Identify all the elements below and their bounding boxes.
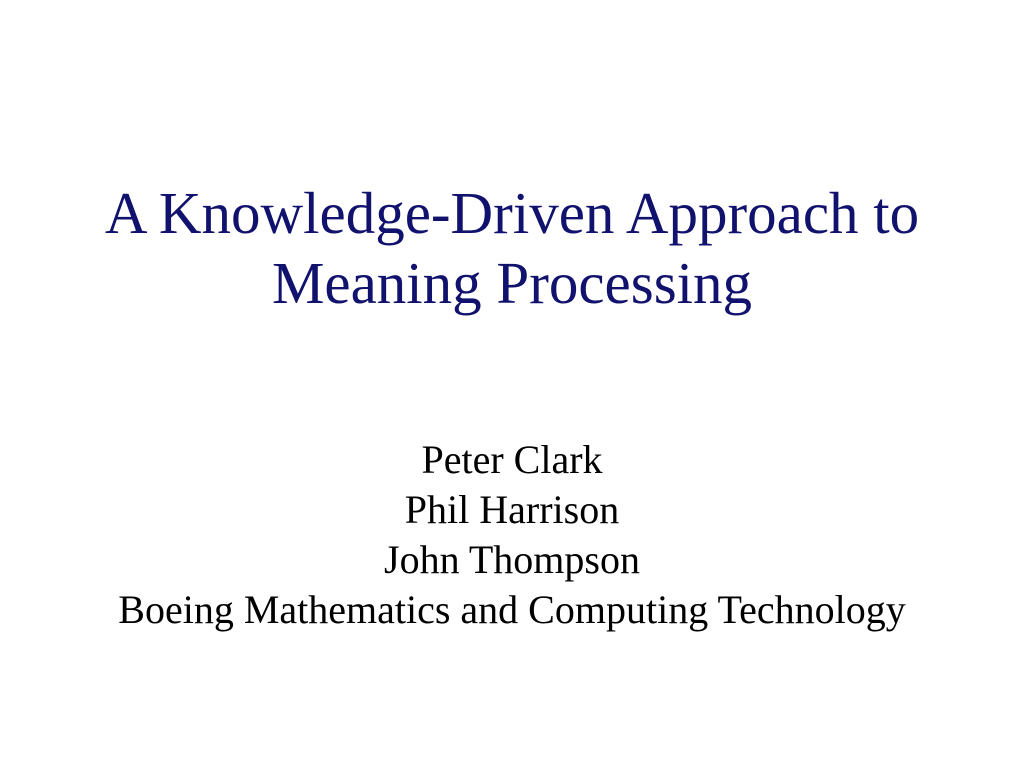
author-name-1: Peter Clark [40, 435, 984, 485]
slide-title: A Knowledge-Driven Approach to Meaning P… [0, 178, 1024, 318]
author-name-2: Phil Harrison [40, 485, 984, 535]
author-name-3: John Thompson [40, 535, 984, 585]
title-line-1: A Knowledge-Driven Approach to [60, 178, 964, 248]
affiliation: Boeing Mathematics and Computing Technol… [40, 585, 984, 635]
author-affiliation-block: Peter Clark Phil Harrison John Thompson … [0, 435, 1024, 635]
title-slide: A Knowledge-Driven Approach to Meaning P… [0, 0, 1024, 768]
title-line-2: Meaning Processing [60, 248, 964, 318]
